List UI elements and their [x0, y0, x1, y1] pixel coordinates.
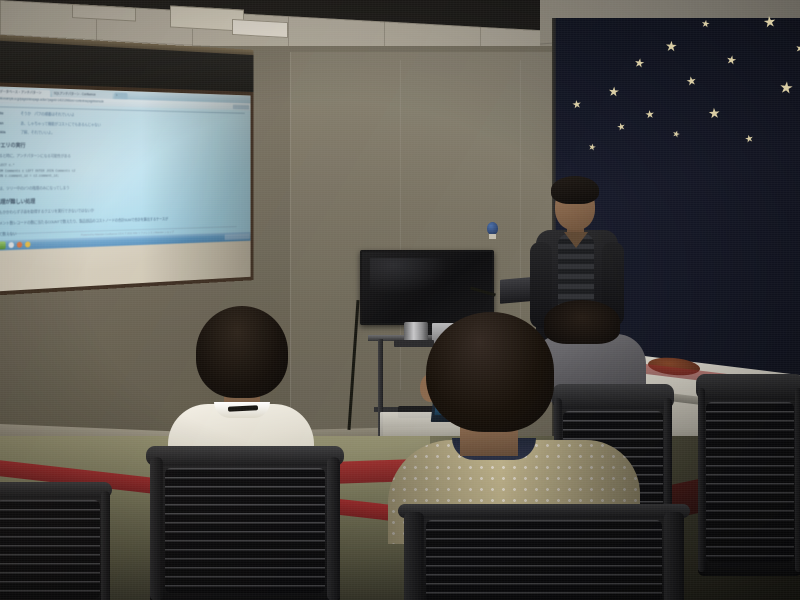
screen-surface: 業務データベース・アンチパターン SQLアンチパターン - Confluence…: [0, 86, 251, 292]
chair-top-rail: [0, 482, 112, 498]
section-heading: クエリの実行: [0, 141, 245, 151]
browser-new-tab-button[interactable]: +: [114, 92, 127, 99]
attendee-hair: [196, 306, 288, 398]
table-row: Fran あ、しゃちゃって機能がコストにでもあるんじゃない: [0, 120, 245, 130]
conference-room-photo: 業務データベース・アンチパターン SQLアンチパターン - Confluence…: [0, 0, 800, 600]
star-icon: ★: [665, 39, 678, 54]
chair-slats: [426, 520, 661, 600]
star-icon: ★: [685, 74, 698, 88]
chair-frame-side: [664, 512, 684, 600]
chair-slats: [706, 402, 793, 562]
section-heading: 処理が難しい処理: [0, 194, 245, 206]
paragraph: にもかかわらず子孫を取得するクエリを実行できないではないか: [0, 204, 245, 215]
firefox-icon[interactable]: [17, 242, 23, 248]
presenter-hair: [551, 176, 599, 204]
tv-screen-reflection: [370, 258, 448, 295]
chair-front-left[interactable]: [0, 484, 110, 600]
chrome-icon[interactable]: [25, 241, 30, 247]
star-icon: ★: [778, 80, 794, 97]
chair-slats: [165, 468, 325, 593]
projection-screen: 業務データベース・アンチパターン SQLアンチパターン - Confluence…: [0, 34, 254, 296]
star-icon: ★: [725, 53, 738, 67]
start-button[interactable]: [0, 241, 6, 250]
wall-sensor-mount: [489, 234, 496, 239]
star-icon: ★: [762, 14, 777, 31]
chair-frame-side: [150, 457, 163, 600]
speaker-line: あ、しゃちゃって機能がコストにでもあるんじゃない: [20, 120, 100, 127]
chair-slats: [0, 500, 100, 599]
chair-frame-side: [698, 388, 705, 572]
star-icon: ★: [607, 85, 620, 99]
explorer-icon[interactable]: [8, 242, 14, 248]
speaker-line: そうか パフの順番はそれでいいよ: [20, 111, 74, 118]
clock-tray[interactable]: [225, 233, 250, 239]
chair-center-left[interactable]: [150, 448, 340, 600]
dialogue-table: Ollie そうか パフの順番はそれでいいよ Fran あ、しゃちゃって機能がコ…: [0, 106, 245, 138]
speaker-name: Ollie: [0, 110, 16, 115]
chair-frame-side: [404, 512, 424, 600]
table-row: Kukla 了解、それでいいよ。: [0, 129, 245, 138]
browser-toolbar-buttons[interactable]: [233, 104, 249, 109]
chair-top-rail: [398, 504, 689, 518]
star-icon: ★: [708, 106, 722, 121]
speaker-line: 了解、それでいいよ。: [20, 130, 54, 136]
ceiling-light-panel: [232, 19, 288, 38]
speaker-name: Kukla: [0, 129, 16, 134]
paragraph: 限は、ツリー中の2つの階層のみになってしまう: [0, 183, 245, 191]
chair-frame-side: [795, 388, 800, 572]
star-icon: ★: [571, 99, 582, 111]
projected-image: 業務データベース・アンチパターン SQLアンチパターン - Confluence…: [0, 86, 251, 251]
star-icon: ★: [633, 56, 646, 70]
speaker-name: Fran: [0, 120, 16, 125]
chair-top-rail: [146, 446, 344, 466]
chair-top-rail: [696, 374, 800, 400]
star-icon: ★: [644, 110, 655, 122]
chair-frame-side: [327, 457, 340, 600]
star-icon: ★: [700, 19, 710, 30]
code-block: SELECT c.* FROM Comments c LEFT OUTER JO…: [0, 164, 245, 181]
chair-far-right[interactable]: [698, 376, 800, 576]
star-icon: ★: [744, 134, 755, 146]
confluence-page-content: Ollie そうか パフの順番はそれでいいよ Fran あ、しゃちゃって機能がコ…: [0, 103, 251, 233]
screen-frame: 業務データベース・アンチパターン SQLアンチパターン - Confluence…: [0, 82, 254, 296]
chair-frame-side: [101, 491, 110, 600]
chair-center-right[interactable]: [404, 506, 684, 600]
attendee-white-shirt: [168, 306, 310, 466]
attendee-hair: [426, 312, 554, 432]
paragraph: すると時に、アンチパターンになる可能性がある: [0, 153, 245, 160]
